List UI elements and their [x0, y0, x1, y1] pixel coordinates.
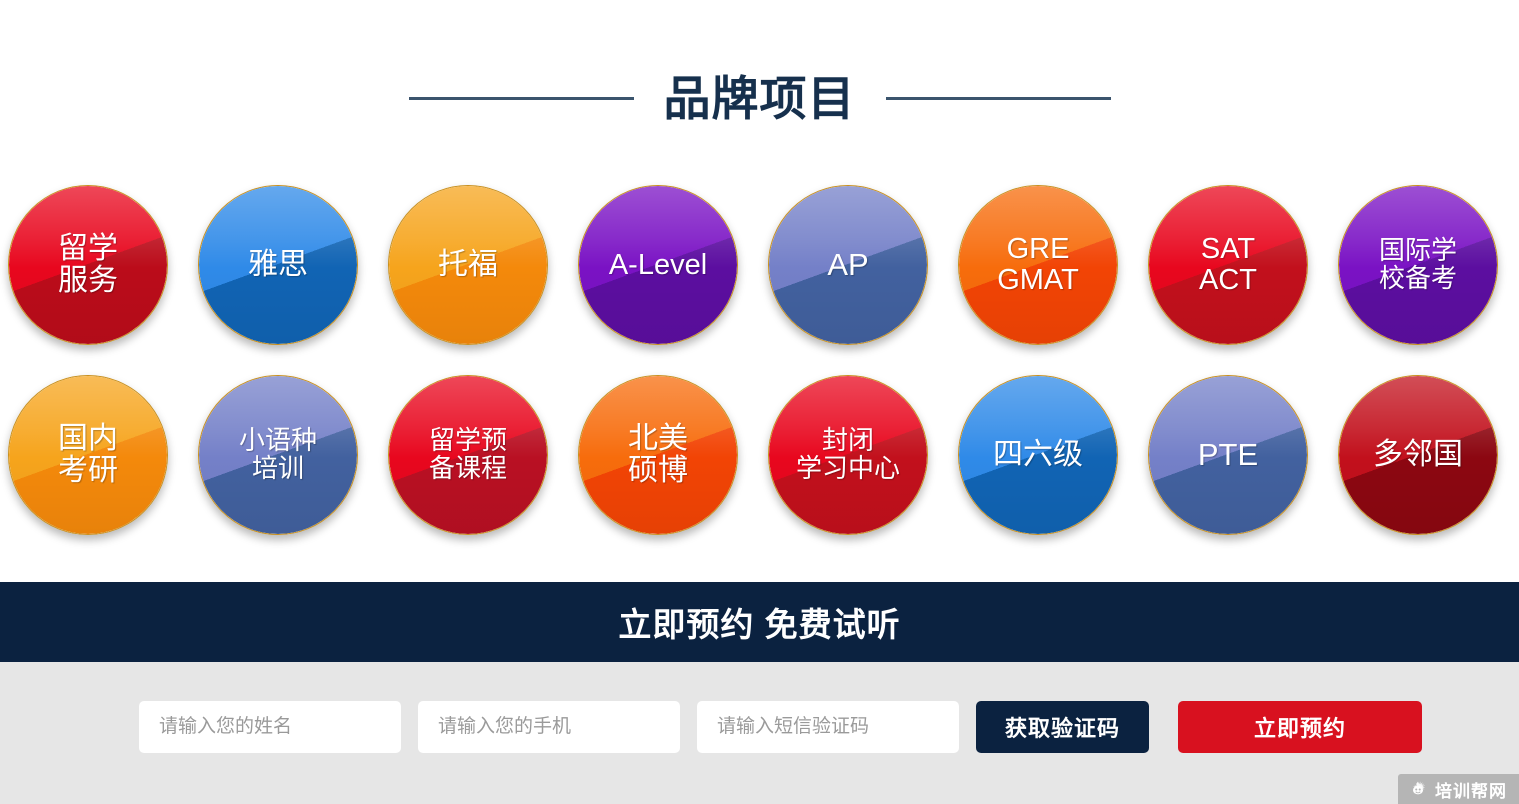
program-circle[interactable]: A-Level — [578, 185, 738, 345]
program-circle-label: 北美 硕博 — [622, 423, 694, 487]
name-input[interactable] — [139, 701, 401, 753]
program-circle[interactable]: PTE — [1148, 375, 1308, 535]
phone-input[interactable] — [418, 701, 680, 753]
booking-form-strip: 获取验证码 立即预约 — [0, 662, 1519, 804]
program-circle-label: 小语种 培训 — [233, 427, 323, 482]
program-circle-label: 多邻国 — [1367, 439, 1469, 471]
program-circle-label: A-Level — [603, 250, 713, 281]
program-circle[interactable]: 四六级 — [958, 375, 1118, 535]
program-circle[interactable]: GRE GMAT — [958, 185, 1118, 345]
get-verification-code-button[interactable]: 获取验证码 — [976, 701, 1149, 753]
program-circle[interactable]: 北美 硕博 — [578, 375, 738, 535]
cta-banner: 立即预约 免费试听 — [0, 582, 1519, 662]
program-circle-label: 托福 — [432, 249, 504, 281]
program-circle-label: GRE GMAT — [991, 234, 1085, 295]
program-circle-label: 封闭 学习中心 — [790, 427, 906, 482]
program-circle[interactable]: 留学预 备课程 — [388, 375, 548, 535]
program-circle[interactable]: 国内 考研 — [8, 375, 168, 535]
program-circle-label: AP — [821, 249, 874, 282]
watermark-label: 培训帮网 — [1435, 777, 1507, 802]
program-circle[interactable]: 国际学 校备考 — [1338, 185, 1498, 345]
program-circle-label: 国内 考研 — [52, 423, 124, 487]
program-circle-label: 留学预 备课程 — [423, 427, 513, 482]
page-title-block: 品牌项目 — [0, 62, 1519, 134]
program-circle[interactable]: 多邻国 — [1338, 375, 1498, 535]
program-circle-label: 国际学 校备考 — [1373, 237, 1463, 292]
title-rule-right — [886, 97, 1111, 100]
brand-programs-page: 品牌项目 留学 服务雅思托福A-LevelAPGRE GMATSAT ACT国际… — [0, 0, 1519, 804]
program-circle[interactable]: 雅思 — [198, 185, 358, 345]
program-circle[interactable]: 小语种 培训 — [198, 375, 358, 535]
program-circle-label: SAT ACT — [1193, 234, 1263, 295]
booking-form: 获取验证码 立即预约 — [139, 701, 1422, 753]
sun-face-icon — [1408, 779, 1428, 799]
sms-code-input[interactable] — [697, 701, 959, 753]
program-circle[interactable]: AP — [768, 185, 928, 345]
program-circle-label: PTE — [1192, 439, 1264, 472]
program-circle[interactable]: SAT ACT — [1148, 185, 1308, 345]
title-rule-left — [409, 97, 634, 100]
cta-banner-text: 立即预约 免费试听 — [618, 598, 900, 646]
program-circle-label: 四六级 — [987, 439, 1089, 471]
program-circle-label: 雅思 — [242, 249, 314, 281]
program-row-1: 留学 服务雅思托福A-LevelAPGRE GMATSAT ACT国际学 校备考 — [8, 185, 1511, 345]
site-watermark: 培训帮网 — [1398, 774, 1519, 804]
program-circle[interactable]: 托福 — [388, 185, 548, 345]
submit-booking-button[interactable]: 立即预约 — [1178, 701, 1422, 753]
program-circle[interactable]: 封闭 学习中心 — [768, 375, 928, 535]
page-title: 品牌项目 — [664, 75, 856, 122]
program-grid: 留学 服务雅思托福A-LevelAPGRE GMATSAT ACT国际学 校备考… — [8, 185, 1511, 535]
program-circle[interactable]: 留学 服务 — [8, 185, 168, 345]
program-row-2: 国内 考研小语种 培训留学预 备课程北美 硕博封闭 学习中心四六级PTE多邻国 — [8, 375, 1511, 535]
program-circle-label: 留学 服务 — [52, 233, 124, 297]
